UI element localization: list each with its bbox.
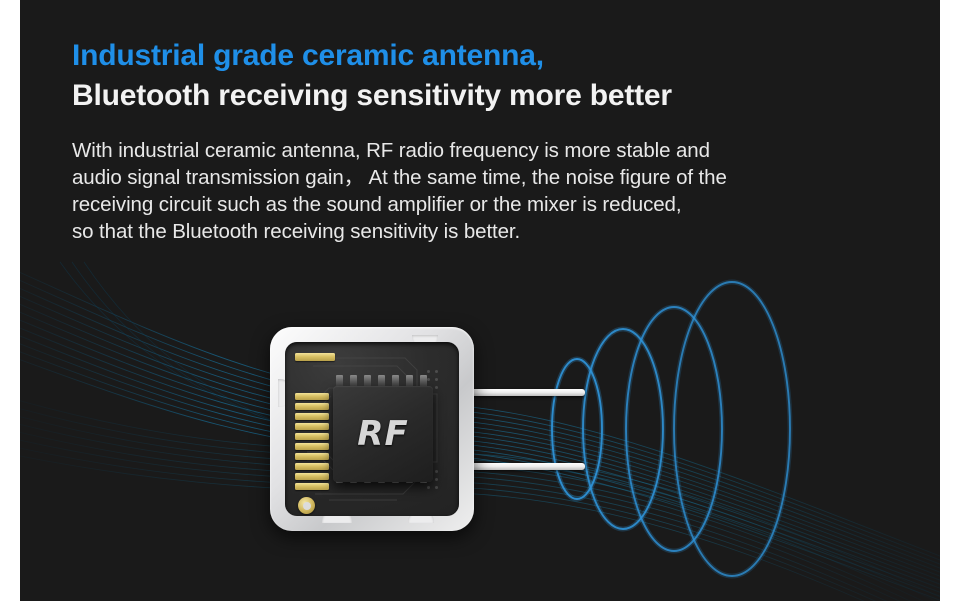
pcb-dot [427,378,430,381]
page-title: Industrial grade ceramic antenna, Blueto… [72,36,892,116]
gold-pad [295,453,329,460]
gold-pad [295,413,329,420]
signal-ring-2 [583,329,663,529]
text-block: Industrial grade ceramic antenna, Blueto… [72,36,892,245]
signal-ring-4 [674,282,790,576]
signal-ring-1 [552,359,602,499]
product-feature-banner: RF Industrial grade ceramic antenna, Blu… [0,0,960,601]
headline-line-1: Industrial grade ceramic antenna, [72,36,892,76]
pcb-dot [427,486,430,489]
gold-pad [295,483,329,490]
signal-ring-3 [626,307,722,551]
rf-chip: RF [333,386,433,482]
gold-pad [295,393,329,400]
rf-module: RF [270,327,474,531]
body-line-2: audio signal transmission gain， At the s… [72,164,892,191]
pcb-dot [435,486,438,489]
headline-line-2: Bluetooth receiving sensitivity more bet… [72,76,892,116]
gold-pad-top [295,353,335,361]
body-line-3: receiving circuit such as the sound ampl… [72,191,892,218]
body-paragraph: With industrial ceramic antenna, RF radi… [72,137,892,245]
gold-pad [295,443,329,450]
gold-pad [295,433,329,440]
pcb-dot [435,470,438,473]
gold-pad [295,423,329,430]
pcb-dot [435,378,438,381]
gold-pad [295,403,329,410]
gold-via [298,497,315,514]
pcb-dot [427,370,430,373]
body-line-4: so that the Bluetooth receiving sensitiv… [72,218,892,245]
gold-pad [295,463,329,470]
pcb-dot [435,386,438,389]
body-line-1: With industrial ceramic antenna, RF radi… [72,137,892,164]
module-pcb: RF [285,342,459,516]
dark-panel: RF Industrial grade ceramic antenna, Blu… [20,0,940,601]
pcb-dot [435,370,438,373]
gold-pad [295,473,329,480]
pcb-dot [435,478,438,481]
module-frame: RF [270,327,474,531]
rf-chip-label: RF [333,386,433,482]
